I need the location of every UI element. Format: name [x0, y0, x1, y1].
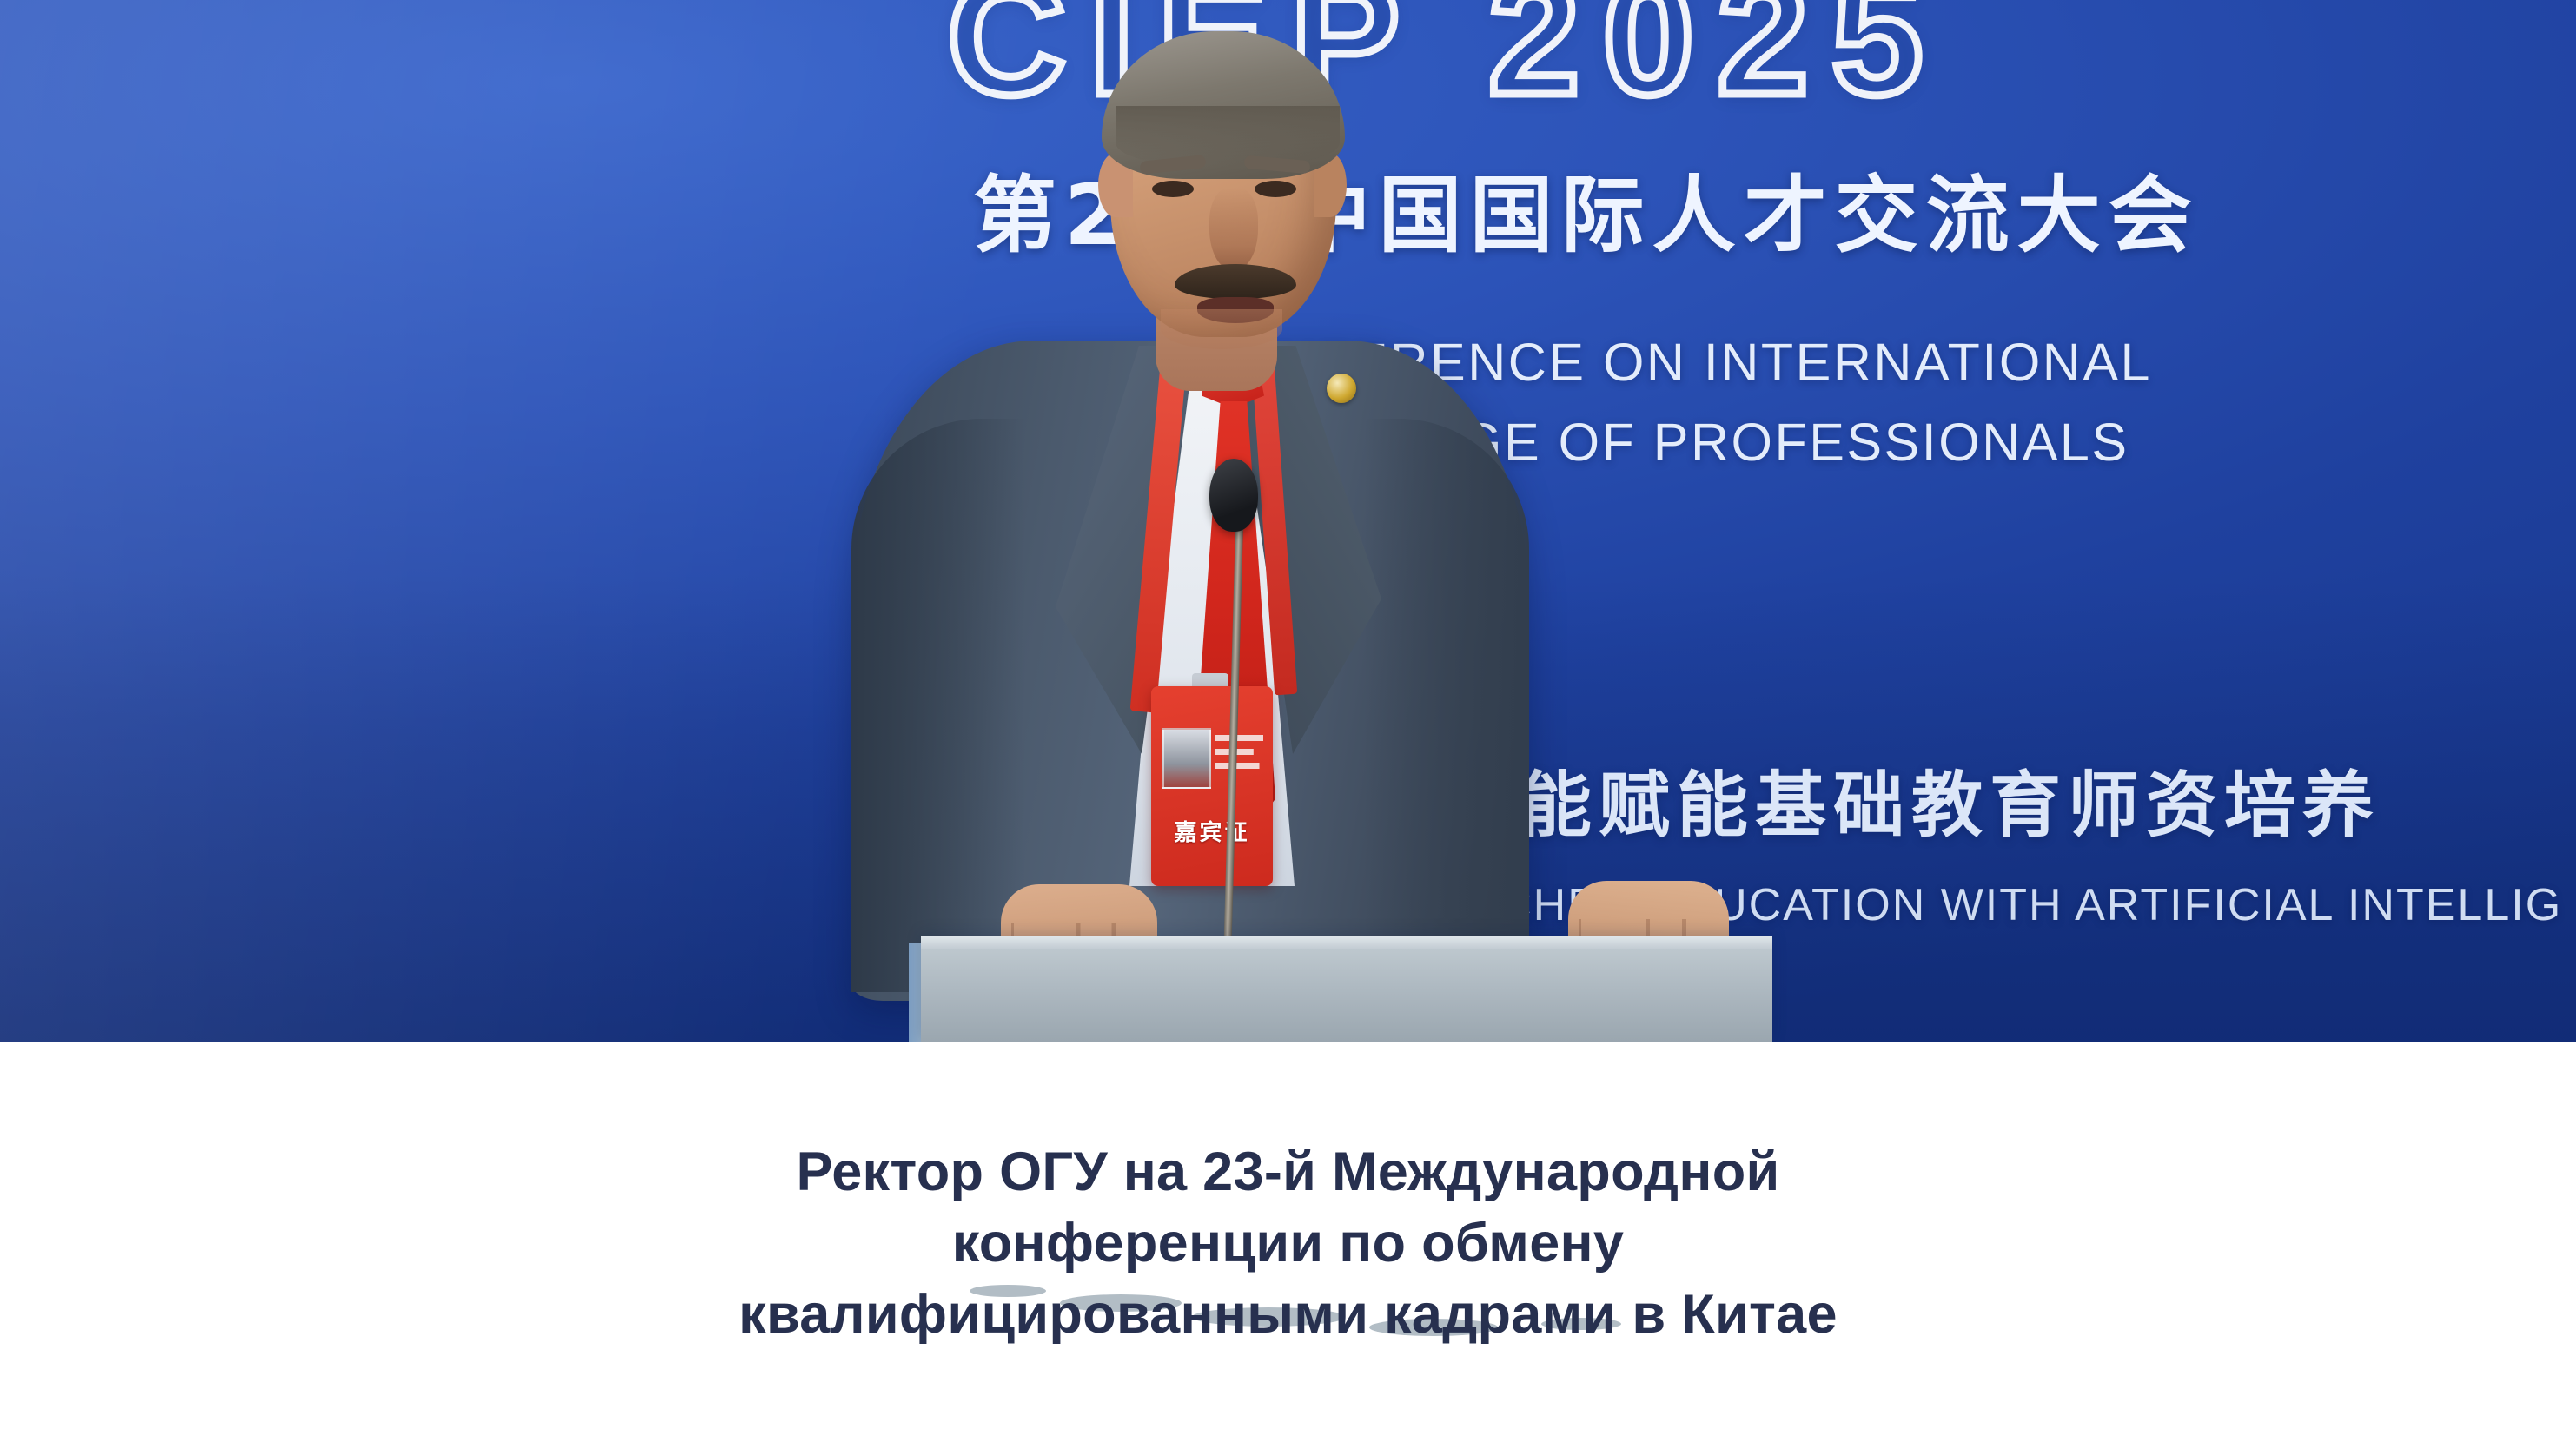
speaker-photo: CIEP 2025 第23届中国国际人才交流大会 NFERENCE ON INT…	[0, 0, 2576, 1042]
nose	[1209, 188, 1258, 271]
hair	[1102, 31, 1345, 179]
microphone-head	[1209, 459, 1258, 532]
caption-line-3: квалифицированными кадрами в Китае	[0, 1279, 2576, 1350]
caption-line-2: конференции по обмену	[0, 1207, 2576, 1279]
moustache	[1175, 264, 1296, 299]
podium	[921, 936, 1772, 1042]
eye-right	[1255, 181, 1296, 197]
caption: Ректор ОГУ на 23-й Международной конфере…	[0, 1136, 2576, 1350]
eye-left	[1152, 181, 1194, 197]
badge-label: 嘉宾证	[1157, 815, 1267, 847]
podium-top-surface	[921, 936, 1772, 949]
chin	[1161, 309, 1282, 349]
speaker-figure: 嘉宾证	[0, 0, 2576, 1042]
badge-text-lines	[1215, 735, 1263, 775]
badge-portrait-photo	[1162, 728, 1211, 789]
caption-line-1: Ректор ОГУ на 23-й Международной	[0, 1136, 2576, 1207]
lapel-pin-icon	[1327, 374, 1356, 403]
news-card: CIEP 2025 第23届中国国际人才交流大会 NFERENCE ON INT…	[0, 0, 2576, 1449]
